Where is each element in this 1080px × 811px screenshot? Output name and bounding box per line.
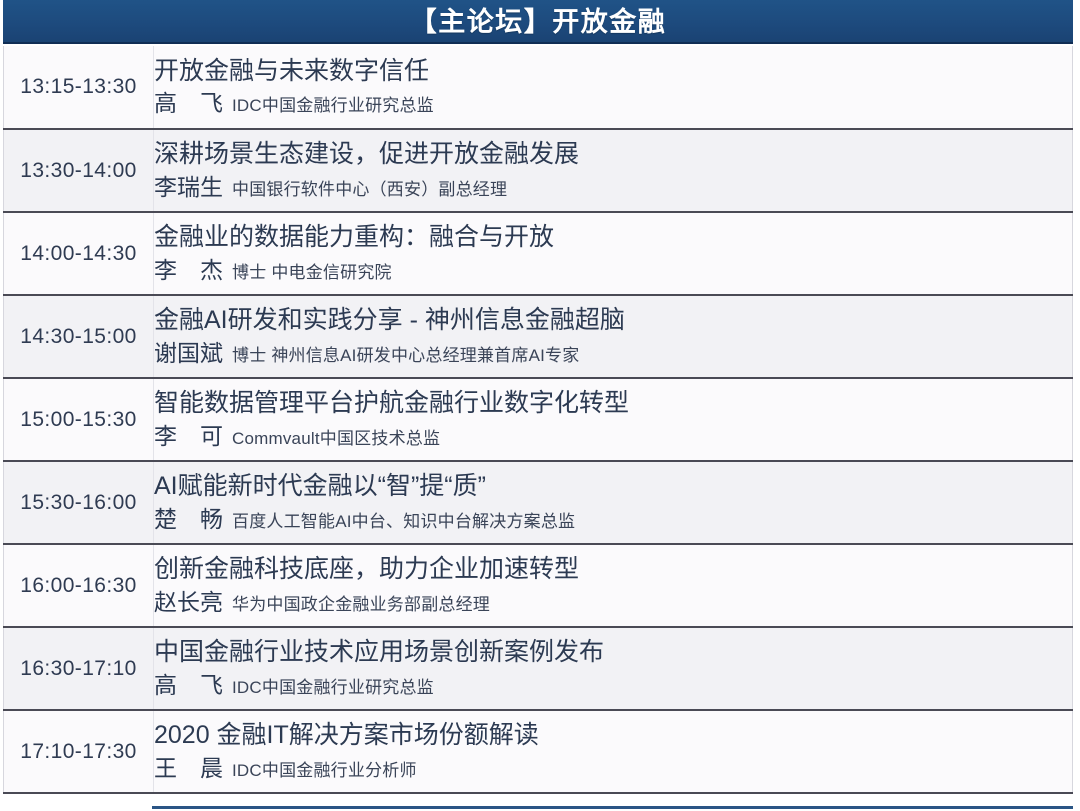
speaker-line: 楚 畅 百度人工智能AI中台、知识中台解决方案总监	[154, 505, 1072, 534]
session-time-cell: 16:00-16:30	[4, 544, 154, 627]
session-content-cell: 开放金融与未来数字信任 高 飞 IDC中国金融行业研究总监	[154, 46, 1073, 129]
session-title: 金融AI研发和实践分享 - 神州信息金融超脑	[154, 305, 1072, 337]
session-time: 14:00-14:30	[20, 242, 137, 265]
session-title: 开放金融与未来数字信任	[154, 56, 1072, 88]
session-time: 15:30-16:00	[20, 491, 137, 514]
session-time-cell: 13:15-13:30	[4, 46, 154, 129]
session-time-cell: 17:10-17:30	[4, 710, 154, 793]
session-time-cell: 14:30-15:00	[4, 295, 154, 378]
speaker-name: 李 杰	[154, 256, 223, 285]
session-time-cell: 14:00-14:30	[4, 212, 154, 295]
speaker-name: 高 飞	[154, 671, 223, 700]
speaker-name: 楚 畅	[154, 505, 223, 534]
session-content-cell: 金融业的数据能力重构：融合与开放 李 杰 博士 中电金信研究院	[154, 212, 1073, 295]
forum-header-bar: 【主论坛】开放金融	[3, 0, 1073, 44]
agenda-table: 13:15-13:30 开放金融与未来数字信任 高 飞 IDC中国金融行业研究总…	[3, 46, 1073, 794]
speaker-name: 高 飞	[154, 89, 223, 118]
bottom-accent-bar	[152, 806, 1073, 809]
table-row: 13:30-14:00 深耕场景生态建设，促进开放金融发展 李瑞生 中国银行软件…	[4, 129, 1073, 212]
agenda-root: 【主论坛】开放金融 13:15-13:30 开放金融与未来数字信任 高 飞 ID…	[0, 0, 1080, 811]
session-content-cell: 智能数据管理平台护航金融行业数字化转型 李 可 Commvault中国区技术总监	[154, 378, 1073, 461]
speaker-name: 赵长亮	[154, 588, 223, 617]
session-content-cell: 深耕场景生态建设，促进开放金融发展 李瑞生 中国银行软件中心（西安）副总经理	[154, 129, 1073, 212]
speaker-affiliation: 百度人工智能AI中台、知识中台解决方案总监	[232, 511, 575, 532]
session-content-cell: AI赋能新时代金融以“智”提“质” 楚 畅 百度人工智能AI中台、知识中台解决方…	[154, 461, 1073, 544]
speaker-name: 李 可	[154, 422, 223, 451]
session-time: 14:30-15:00	[20, 325, 137, 348]
speaker-affiliation: 华为中国政企金融业务部副总经理	[232, 594, 490, 615]
session-time: 15:00-15:30	[20, 408, 137, 431]
session-time-cell: 16:30-17:10	[4, 627, 154, 710]
session-title: 深耕场景生态建设，促进开放金融发展	[154, 139, 1072, 171]
session-time-cell: 15:00-15:30	[4, 378, 154, 461]
speaker-affiliation: 博士 中电金信研究院	[232, 262, 392, 283]
table-row: 16:30-17:10 中国金融行业技术应用场景创新案例发布 高 飞 IDC中国…	[4, 627, 1073, 710]
session-content-cell: 创新金融科技底座，助力企业加速转型 赵长亮 华为中国政企金融业务部副总经理	[154, 544, 1073, 627]
session-time-cell: 15:30-16:00	[4, 461, 154, 544]
session-title: AI赋能新时代金融以“智”提“质”	[154, 471, 1072, 503]
speaker-line: 赵长亮 华为中国政企金融业务部副总经理	[154, 588, 1072, 617]
speaker-affiliation: IDC中国金融行业分析师	[232, 760, 417, 781]
session-title: 2020 金融IT解决方案市场份额解读	[154, 720, 1072, 752]
session-time: 17:10-17:30	[20, 740, 137, 763]
session-title: 中国金融行业技术应用场景创新案例发布	[154, 637, 1072, 669]
speaker-line: 王 晨 IDC中国金融行业分析师	[154, 754, 1072, 783]
session-content-cell: 金融AI研发和实践分享 - 神州信息金融超脑 谢国斌 博士 神州信息AI研发中心…	[154, 295, 1073, 378]
table-row: 14:00-14:30 金融业的数据能力重构：融合与开放 李 杰 博士 中电金信…	[4, 212, 1073, 295]
table-row: 15:30-16:00 AI赋能新时代金融以“智”提“质” 楚 畅 百度人工智能…	[4, 461, 1073, 544]
session-content-cell: 2020 金融IT解决方案市场份额解读 王 晨 IDC中国金融行业分析师	[154, 710, 1073, 793]
speaker-affiliation: IDC中国金融行业研究总监	[232, 95, 434, 116]
table-row: 15:00-15:30 智能数据管理平台护航金融行业数字化转型 李 可 Comm…	[4, 378, 1073, 461]
speaker-line: 高 飞 IDC中国金融行业研究总监	[154, 671, 1072, 700]
table-row: 17:10-17:30 2020 金融IT解决方案市场份额解读 王 晨 IDC中…	[4, 710, 1073, 793]
table-row: 13:15-13:30 开放金融与未来数字信任 高 飞 IDC中国金融行业研究总…	[4, 46, 1073, 129]
session-time: 16:00-16:30	[20, 574, 137, 597]
page-title: 【主论坛】开放金融	[410, 9, 667, 36]
session-time-cell: 13:30-14:00	[4, 129, 154, 212]
speaker-affiliation: 博士 神州信息AI研发中心总经理兼首席AI专家	[232, 345, 579, 366]
session-time: 13:15-13:30	[20, 75, 137, 98]
session-time: 13:30-14:00	[20, 159, 137, 182]
session-title: 创新金融科技底座，助力企业加速转型	[154, 554, 1072, 586]
agenda-table-body: 13:15-13:30 开放金融与未来数字信任 高 飞 IDC中国金融行业研究总…	[4, 46, 1073, 793]
session-time: 16:30-17:10	[20, 657, 137, 680]
speaker-affiliation: IDC中国金融行业研究总监	[232, 677, 434, 698]
speaker-line: 谢国斌 博士 神州信息AI研发中心总经理兼首席AI专家	[154, 339, 1072, 368]
speaker-line: 李 杰 博士 中电金信研究院	[154, 256, 1072, 285]
session-title: 金融业的数据能力重构：融合与开放	[154, 222, 1072, 254]
table-row: 16:00-16:30 创新金融科技底座，助力企业加速转型 赵长亮 华为中国政企…	[4, 544, 1073, 627]
speaker-name: 谢国斌	[154, 339, 223, 368]
speaker-name: 王 晨	[154, 754, 223, 783]
table-row: 14:30-15:00 金融AI研发和实践分享 - 神州信息金融超脑 谢国斌 博…	[4, 295, 1073, 378]
speaker-affiliation: 中国银行软件中心（西安）副总经理	[232, 179, 507, 200]
speaker-line: 高 飞 IDC中国金融行业研究总监	[154, 89, 1072, 118]
speaker-line: 李瑞生 中国银行软件中心（西安）副总经理	[154, 173, 1072, 202]
speaker-affiliation: Commvault中国区技术总监	[232, 428, 440, 449]
session-content-cell: 中国金融行业技术应用场景创新案例发布 高 飞 IDC中国金融行业研究总监	[154, 627, 1073, 710]
speaker-name: 李瑞生	[154, 173, 223, 202]
speaker-line: 李 可 Commvault中国区技术总监	[154, 422, 1072, 451]
session-title: 智能数据管理平台护航金融行业数字化转型	[154, 388, 1072, 420]
